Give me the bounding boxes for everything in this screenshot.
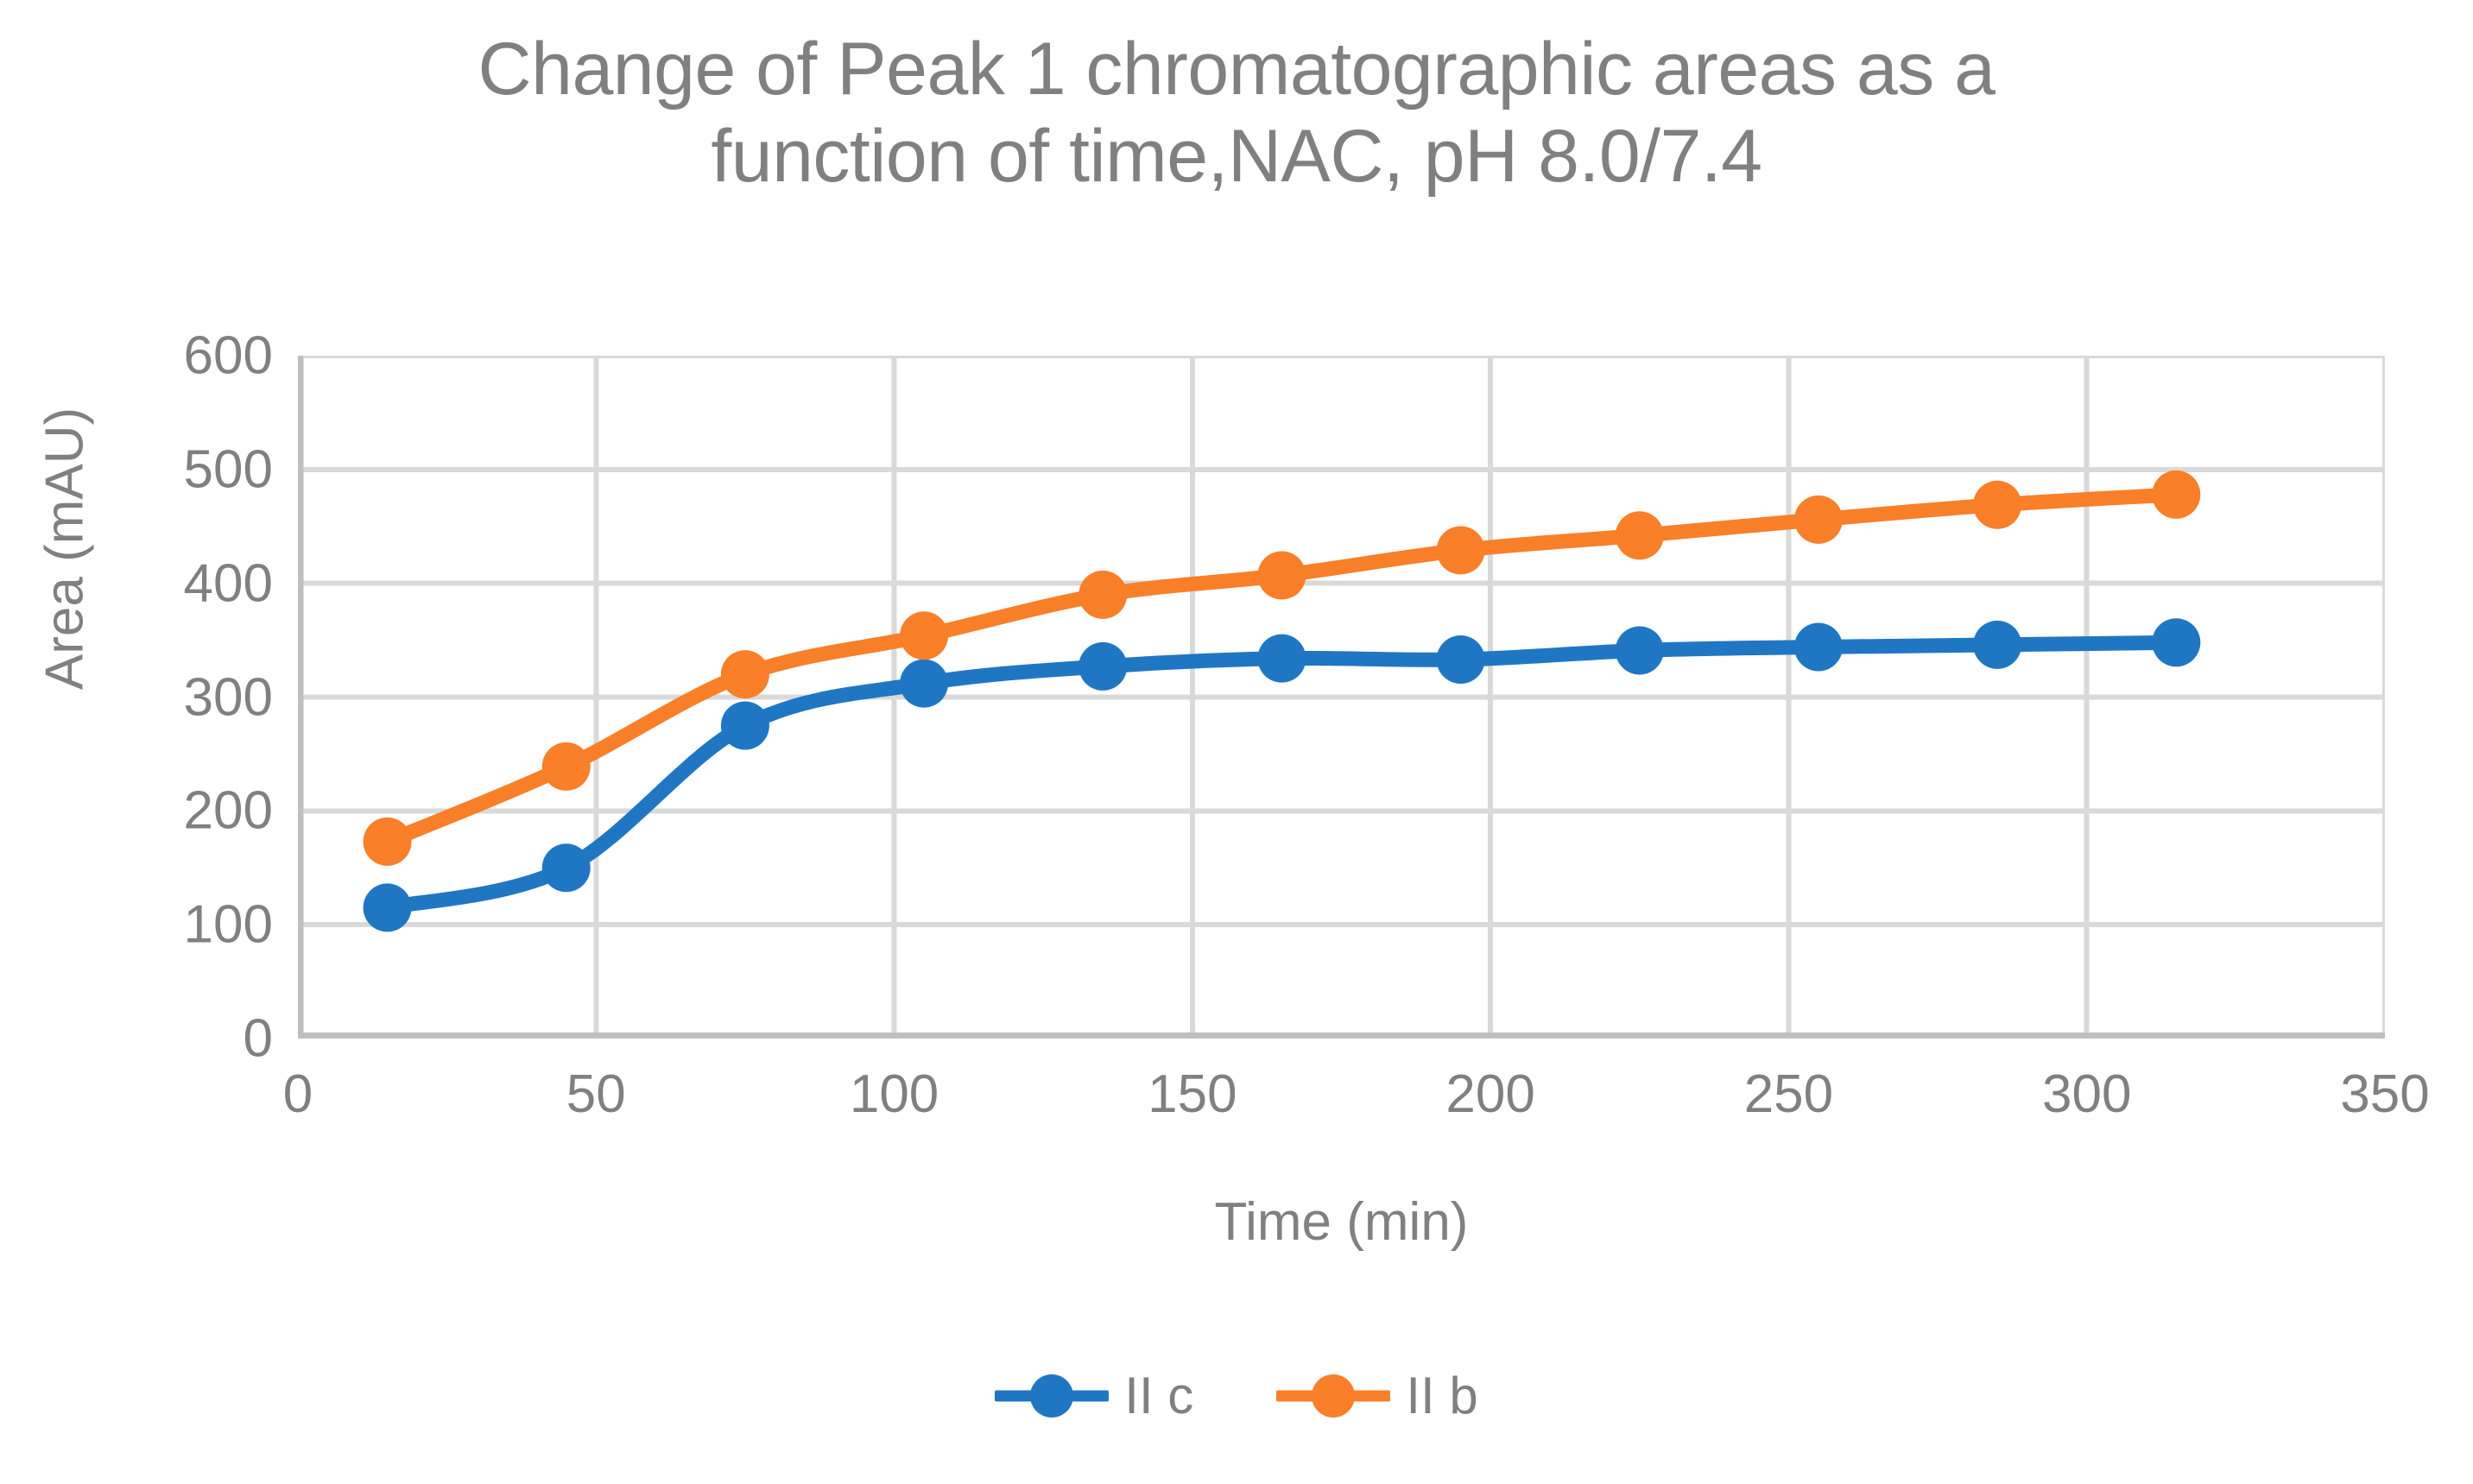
chart-title-line-1: Change of Peak 1 chromatographic areas a… [0, 26, 2473, 113]
legend-label-0: II c [1124, 1366, 1193, 1425]
x-tick-label-350: 350 [2340, 1064, 2429, 1125]
x-tick-label-0: 0 [283, 1064, 313, 1125]
series-0 [364, 618, 2201, 931]
data-point-marker[interactable] [1257, 551, 1306, 599]
data-point-marker[interactable] [1078, 642, 1127, 691]
y-tick-label-100: 100 [184, 894, 273, 956]
data-point-marker[interactable] [1437, 635, 1485, 684]
gridlines [298, 356, 2385, 1039]
legend-item-1[interactable]: II b [1276, 1366, 1477, 1425]
y-tick-label-500: 500 [184, 439, 273, 500]
y-tick-label-300: 300 [184, 666, 273, 728]
data-point-marker[interactable] [1437, 526, 1485, 574]
data-point-marker[interactable] [2152, 618, 2200, 666]
data-point-marker[interactable] [364, 818, 412, 866]
data-point-marker[interactable] [1794, 622, 1843, 671]
data-point-marker[interactable] [1794, 496, 1843, 544]
x-tick-label-250: 250 [1744, 1064, 1833, 1125]
plot-svg [298, 356, 2385, 1039]
y-tick-label-0: 0 [244, 1008, 273, 1070]
plot-area [298, 356, 2385, 1039]
data-point-marker[interactable] [2152, 470, 2200, 519]
data-point-marker[interactable] [364, 883, 412, 931]
chart-title-line-2: function of time,NAC, pH 8.0/7.4 [0, 113, 2473, 200]
chart-legend: II c II b [0, 1366, 2473, 1425]
data-point-marker[interactable] [900, 611, 948, 660]
x-tick-label-150: 150 [1148, 1064, 1236, 1125]
data-point-marker[interactable] [1078, 571, 1127, 619]
y-tick-label-200: 200 [184, 780, 273, 842]
y-tick-label-400: 400 [184, 553, 273, 614]
legend-item-0[interactable]: II c [995, 1366, 1193, 1425]
x-tick-label-200: 200 [1445, 1064, 1534, 1125]
data-point-marker[interactable] [1616, 511, 1664, 559]
data-point-marker[interactable] [542, 843, 591, 892]
legend-marker-icon-1 [1276, 1373, 1390, 1418]
legend-marker-icon-0 [995, 1373, 1109, 1418]
data-series-layer [364, 470, 2201, 932]
x-axis-title: Time (min) [298, 1191, 2385, 1253]
y-axis-title: Area (mAU) [35, 307, 96, 791]
data-point-marker[interactable] [721, 650, 769, 698]
data-point-marker[interactable] [542, 742, 591, 791]
data-point-marker[interactable] [1973, 621, 2021, 669]
data-point-marker[interactable] [1257, 635, 1306, 683]
data-point-marker[interactable] [900, 660, 948, 708]
data-point-marker[interactable] [1973, 481, 2021, 529]
y-tick-label-600: 600 [184, 325, 273, 387]
chart-title: Change of Peak 1 chromatographic areas a… [0, 26, 2473, 199]
x-tick-label-50: 50 [566, 1064, 626, 1125]
x-tick-label-300: 300 [2042, 1064, 2131, 1125]
data-point-marker[interactable] [721, 701, 769, 749]
x-tick-label-100: 100 [850, 1064, 939, 1125]
chart-container: Change of Peak 1 chromatographic areas a… [0, 0, 2473, 1484]
data-point-marker[interactable] [1616, 626, 1664, 674]
legend-label-1: II b [1406, 1366, 1477, 1425]
